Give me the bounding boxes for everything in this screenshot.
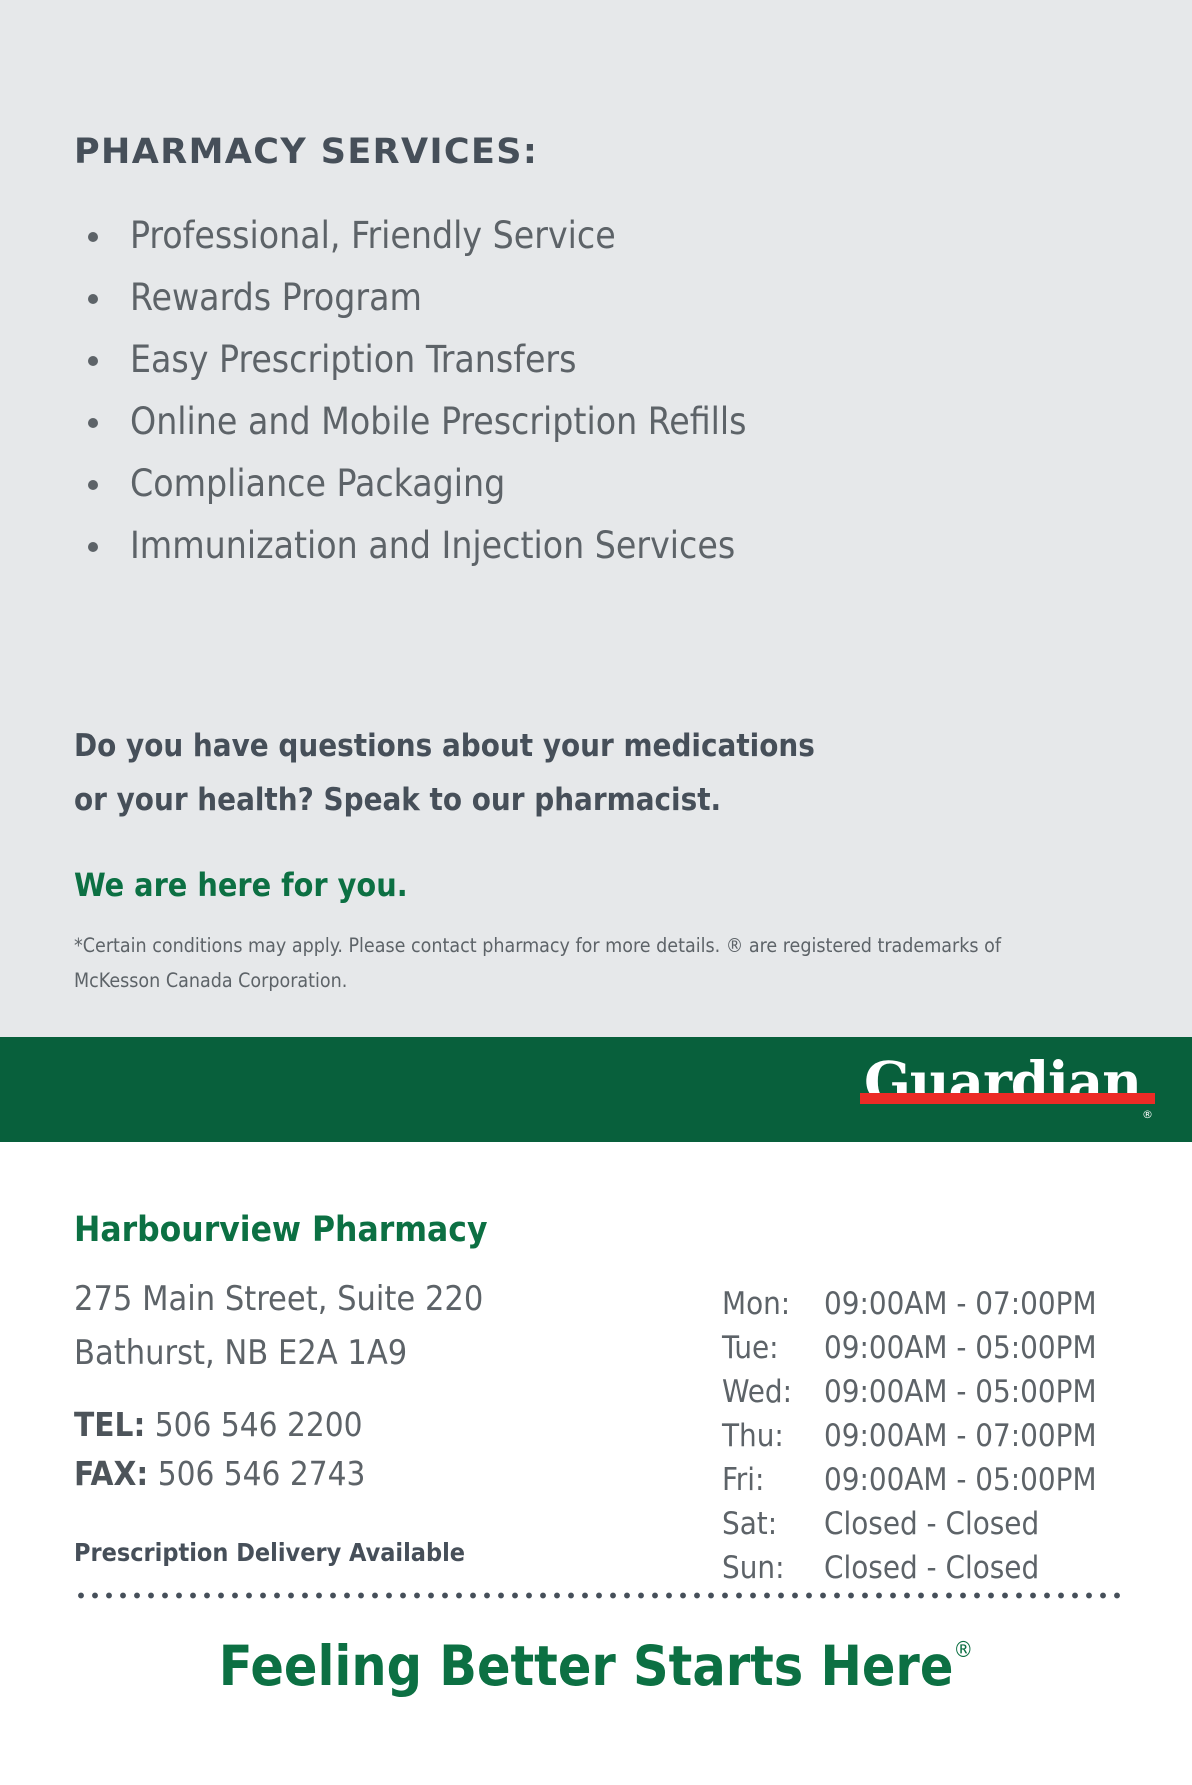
list-item: Easy Prescription Transfers bbox=[74, 329, 747, 391]
bullet-icon bbox=[88, 294, 98, 304]
footer-tagline-text: Feeling Better Starts Here bbox=[219, 1634, 954, 1698]
telephone-label: TEL: bbox=[74, 1405, 145, 1444]
footer-tagline: Feeling Better Starts Here® bbox=[0, 1639, 1192, 1694]
pharmacist-question: Do you have questions about your medicat… bbox=[74, 719, 815, 827]
service-label: Easy Prescription Transfers bbox=[130, 338, 576, 381]
store-address: 275 Main Street, Suite 220 Bathurst, NB … bbox=[74, 1272, 483, 1380]
store-hours-table: Mon: 09:00AM - 07:00PM Tue: 09:00AM - 05… bbox=[722, 1282, 1097, 1590]
store-name: Harbourview Pharmacy bbox=[74, 1213, 488, 1248]
hours-day: Mon: bbox=[722, 1282, 824, 1326]
store-contact: TEL: 506 546 2200 FAX: 506 546 2743 bbox=[74, 1400, 365, 1498]
bullet-icon bbox=[88, 542, 98, 552]
pharmacy-flyer-page: PHARMACY SERVICES: Professional, Friendl… bbox=[0, 0, 1192, 1785]
table-row: Sun: Closed - Closed bbox=[722, 1546, 1097, 1590]
address-line-2: Bathurst, NB E2A 1A9 bbox=[74, 1326, 483, 1380]
table-row: Tue: 09:00AM - 05:00PM bbox=[722, 1326, 1097, 1370]
disclaimer-line-2: McKesson Canada Corporation. bbox=[74, 963, 1074, 998]
table-row: Mon: 09:00AM - 07:00PM bbox=[722, 1282, 1097, 1326]
question-line-2: or your health? Speak to our pharmacist. bbox=[74, 773, 815, 827]
telephone-value[interactable]: 506 546 2200 bbox=[155, 1405, 363, 1444]
bullet-icon bbox=[88, 480, 98, 490]
hours-time: 09:00AM - 05:00PM bbox=[824, 1458, 1097, 1502]
services-list: Professional, Friendly Service Rewards P… bbox=[74, 205, 747, 577]
registered-trademark-icon: ® bbox=[953, 1638, 973, 1663]
brand-band: Guardian ® bbox=[0, 1037, 1192, 1142]
list-item: Compliance Packaging bbox=[74, 453, 747, 515]
list-item: Professional, Friendly Service bbox=[74, 205, 747, 267]
registered-trademark-icon: ® bbox=[1142, 1108, 1153, 1121]
hours-time: Closed - Closed bbox=[824, 1502, 1039, 1546]
fax-row: FAX: 506 546 2743 bbox=[74, 1449, 365, 1498]
address-line-1: 275 Main Street, Suite 220 bbox=[74, 1272, 483, 1326]
list-item: Online and Mobile Prescription Refills bbox=[74, 391, 747, 453]
list-item: Rewards Program bbox=[74, 267, 747, 329]
hours-time: 09:00AM - 05:00PM bbox=[824, 1370, 1097, 1414]
hours-time: 09:00AM - 05:00PM bbox=[824, 1326, 1097, 1370]
hours-day: Sun: bbox=[722, 1546, 824, 1590]
bullet-icon bbox=[88, 356, 98, 366]
dotted-divider bbox=[74, 1592, 1121, 1599]
service-label: Professional, Friendly Service bbox=[130, 214, 616, 257]
telephone-row: TEL: 506 546 2200 bbox=[74, 1400, 365, 1449]
bullet-icon bbox=[88, 418, 98, 428]
hours-day: Thu: bbox=[722, 1414, 824, 1458]
service-label: Immunization and Injection Services bbox=[130, 524, 735, 567]
table-row: Fri: 09:00AM - 05:00PM bbox=[722, 1458, 1097, 1502]
fax-label: FAX: bbox=[74, 1454, 148, 1493]
service-label: Rewards Program bbox=[130, 276, 422, 319]
table-row: Sat: Closed - Closed bbox=[722, 1502, 1097, 1546]
delivery-note: Prescription Delivery Available bbox=[74, 1540, 465, 1565]
hours-day: Sat: bbox=[722, 1502, 824, 1546]
table-row: Thu: 09:00AM - 07:00PM bbox=[722, 1414, 1097, 1458]
pharmacy-services-panel: PHARMACY SERVICES: Professional, Friendl… bbox=[0, 0, 1192, 1037]
hours-day: Wed: bbox=[722, 1370, 824, 1414]
hours-time: 09:00AM - 07:00PM bbox=[824, 1414, 1097, 1458]
bullet-icon bbox=[88, 232, 98, 242]
service-label: Online and Mobile Prescription Refills bbox=[130, 400, 747, 443]
hours-day: Tue: bbox=[722, 1326, 824, 1370]
list-item: Immunization and Injection Services bbox=[74, 515, 747, 577]
disclaimer-line-1: *Certain conditions may apply. Please co… bbox=[74, 928, 1074, 963]
hours-day: Fri: bbox=[722, 1458, 824, 1502]
guardian-underline-rule bbox=[860, 1093, 1155, 1104]
fax-value: 506 546 2743 bbox=[158, 1454, 366, 1493]
page-title: PHARMACY SERVICES: bbox=[74, 135, 538, 170]
here-for-you-statement: We are here for you. bbox=[74, 869, 408, 901]
disclaimer-text: *Certain conditions may apply. Please co… bbox=[74, 928, 1074, 998]
question-line-1: Do you have questions about your medicat… bbox=[74, 719, 815, 773]
hours-time: 09:00AM - 07:00PM bbox=[824, 1282, 1097, 1326]
table-row: Wed: 09:00AM - 05:00PM bbox=[722, 1370, 1097, 1414]
service-label: Compliance Packaging bbox=[130, 462, 505, 505]
guardian-logo: Guardian ® bbox=[860, 1053, 1155, 1111]
hours-time: Closed - Closed bbox=[824, 1546, 1039, 1590]
